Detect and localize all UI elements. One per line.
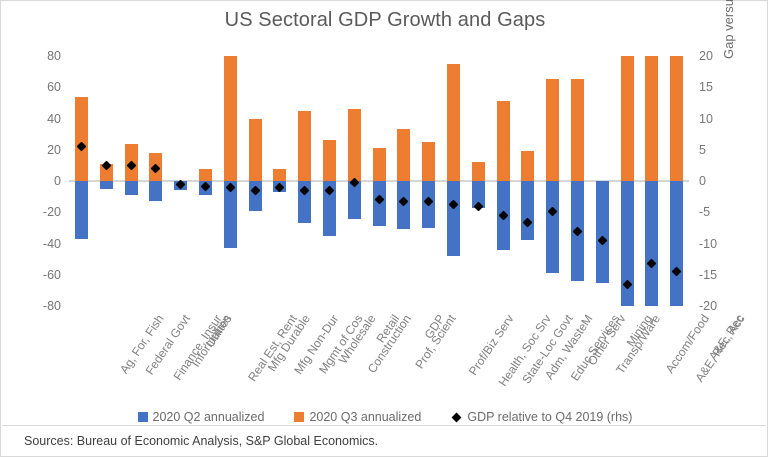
bar-q3: [645, 56, 658, 181]
bar-q3: [224, 56, 237, 181]
bar-q3: [472, 162, 485, 181]
y-tick-right: -5: [699, 206, 739, 219]
bar-q3: [75, 97, 88, 181]
y-tick-right: 5: [699, 144, 739, 157]
chart-title: US Sectoral GDP Growth and Gaps: [1, 9, 768, 32]
orange-square-icon: [294, 412, 304, 422]
y-tick-right: 0: [699, 175, 739, 188]
y-tick-left: -60: [21, 269, 61, 282]
blue-square-icon: [138, 412, 148, 422]
chart-legend: 2020 Q2 annualized 2020 Q3 annualized GD…: [1, 410, 768, 424]
y-tick-right: 15: [699, 81, 739, 94]
bar-q3: [397, 129, 410, 181]
bar-q3: [571, 79, 584, 181]
bar-q2: [149, 181, 162, 201]
bar-q3: [546, 79, 559, 181]
bar-q3: [447, 64, 460, 181]
y-tick-left: -80: [21, 300, 61, 313]
bar-q3: [422, 142, 435, 181]
y-tick-left: 40: [21, 113, 61, 126]
y-tick-left: 80: [21, 50, 61, 63]
y-tick-right: -15: [699, 269, 739, 282]
bar-q3: [670, 56, 683, 181]
bar-q3: [348, 109, 361, 181]
bar-q2: [596, 181, 609, 283]
bar-q2: [546, 181, 559, 273]
y-tick-right: 20: [699, 50, 739, 63]
black-diamond-icon: [452, 412, 462, 422]
bar-q3: [323, 140, 336, 181]
legend-label-q3: 2020 Q3 annualized: [309, 410, 421, 424]
bar-q2: [447, 181, 460, 256]
y-tick-left: 0: [21, 175, 61, 188]
bar-q2: [75, 181, 88, 239]
y-tick-left: 60: [21, 81, 61, 94]
y-tick-right: 10: [699, 113, 739, 126]
bar-q3: [521, 151, 534, 181]
legend-item-gap[interactable]: GDP relative to Q4 2019 (rhs): [451, 410, 632, 424]
bar-q2: [125, 181, 138, 195]
bar-q3: [273, 169, 286, 182]
bar-q3: [621, 56, 634, 181]
bar-q2: [521, 181, 534, 240]
legend-label-gap: GDP relative to Q4 2019 (rhs): [467, 410, 632, 424]
plot-area: [69, 56, 689, 306]
bar-q2: [645, 181, 658, 306]
legend-item-q2[interactable]: 2020 Q2 annualized: [138, 410, 265, 424]
bar-q3: [497, 101, 510, 181]
legend-label-q2: 2020 Q2 annualized: [153, 410, 265, 424]
y-tick-left: -20: [21, 206, 61, 219]
bar-q3: [199, 169, 212, 182]
bar-q3: [298, 111, 311, 181]
y-tick-left: 20: [21, 144, 61, 157]
source-bar: Sources: Bureau of Economic Analysis, S&…: [2, 425, 766, 455]
source-note: Sources: Bureau of Economic Analysis, S&…: [24, 434, 378, 448]
bar-q3: [249, 119, 262, 182]
y-tick-left: -40: [21, 238, 61, 251]
bar-q2: [670, 181, 683, 306]
chart-frame: US Sectoral GDP Growth and Gaps Annualiz…: [0, 0, 768, 457]
y-tick-right: -10: [699, 238, 739, 251]
legend-item-q3[interactable]: 2020 Q3 annualized: [294, 410, 421, 424]
bar-q3: [373, 148, 386, 181]
bar-q2: [100, 181, 113, 189]
y-tick-right: -20: [699, 300, 739, 313]
